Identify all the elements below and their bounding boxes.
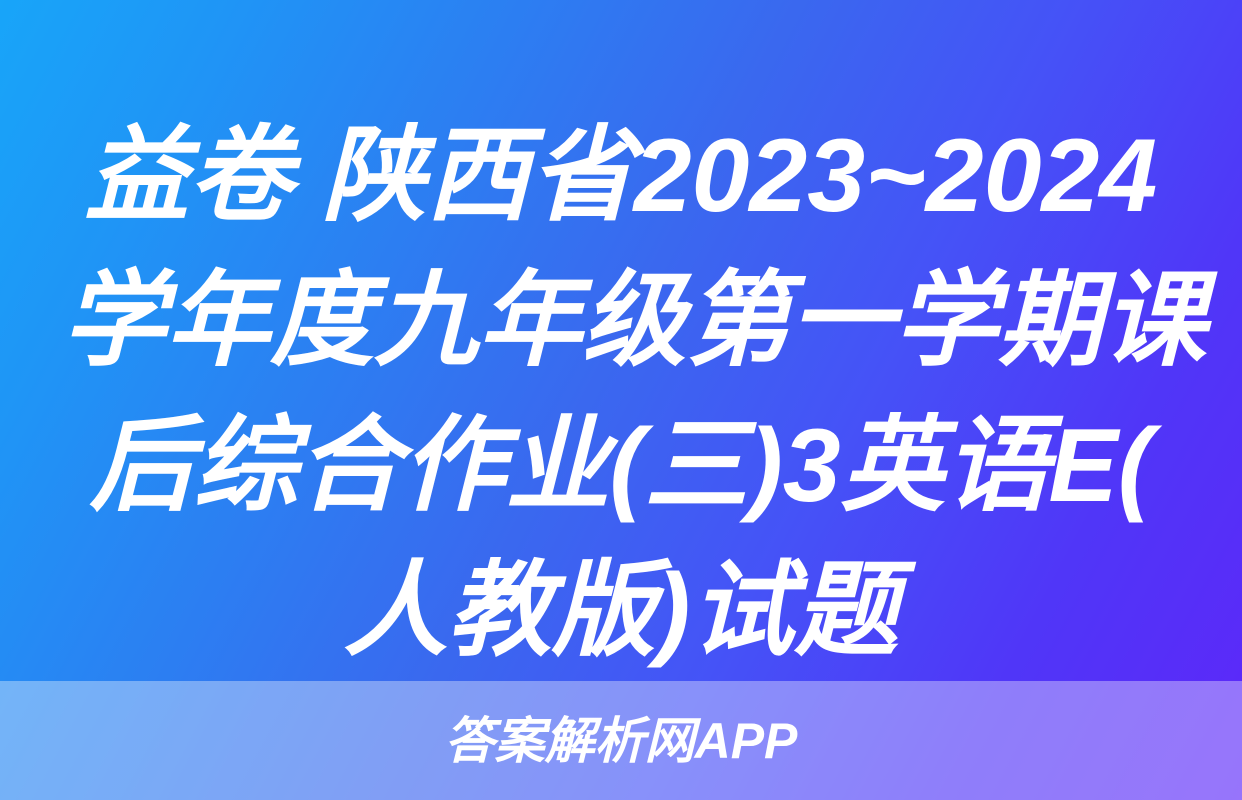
title-line-2: 学年度九年级第一学期课 — [62, 249, 1180, 394]
watermark-label: 答案解析网APP — [445, 716, 798, 766]
page-title: 益卷 陕西省2023~2024 学年度九年级第一学期课 后综合作业(三)3英语E… — [0, 104, 1242, 684]
title-line-4: 人教版)试题 — [62, 539, 1180, 684]
title-line-3: 后综合作业(三)3英语E( — [62, 394, 1180, 539]
exam-paper-cover-card: 益卷 陕西省2023~2024 学年度九年级第一学期课 后综合作业(三)3英语E… — [0, 0, 1242, 800]
title-line-1: 益卷 陕西省2023~2024 — [62, 104, 1180, 249]
watermark-band: 答案解析网APP — [0, 681, 1242, 800]
